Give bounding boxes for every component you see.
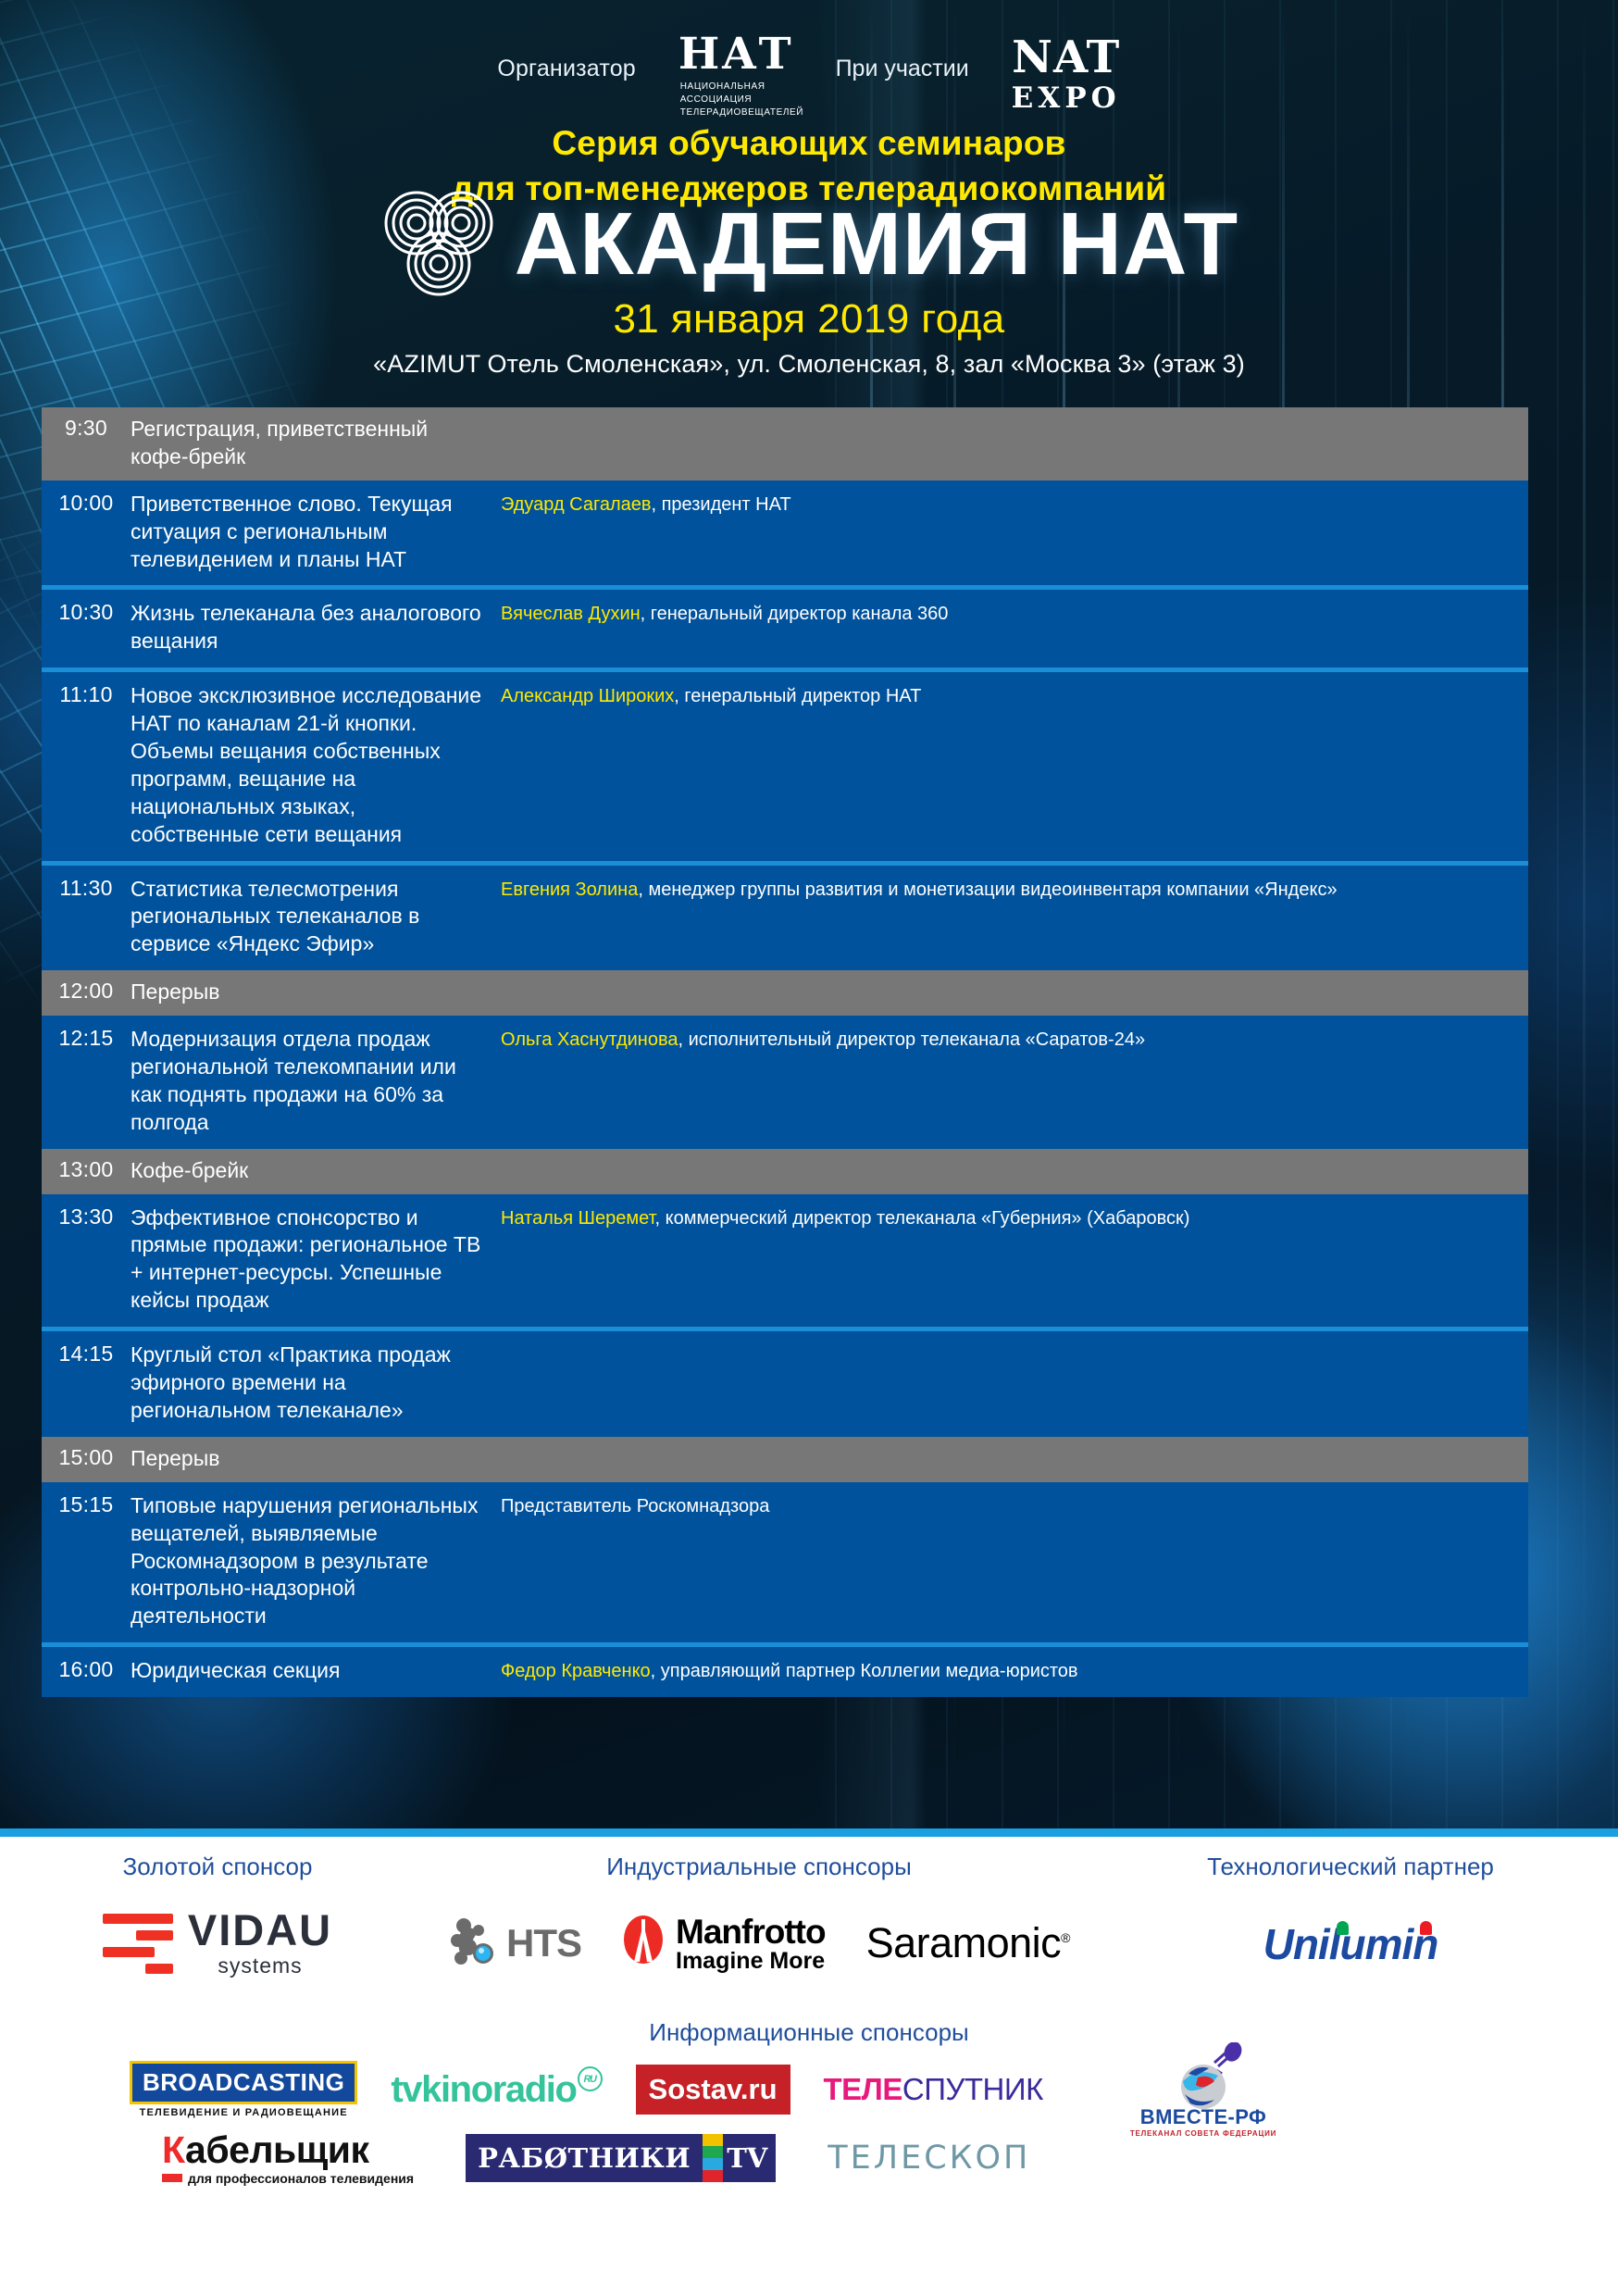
sponsor-logo-sostav[interactable]: Sostav.ru xyxy=(636,2065,790,2115)
schedule-speaker-name: Александр Широких xyxy=(501,686,674,706)
primary-sponsor-logos-row: VIDAU systems xyxy=(0,1890,1618,1997)
kabelshik-square-icon xyxy=(162,2174,182,2182)
event-date: 31 января 2019 года xyxy=(0,296,1618,343)
nat-logo: НАТ НАЦИОНАЛЬНАЯ АССОЦИАЦИЯ ТЕЛЕРАДИОВЕЩ… xyxy=(678,33,793,120)
schedule-speaker-name: Федор Кравченко xyxy=(501,1661,651,1681)
schedule-speaker xyxy=(501,1331,1528,1355)
hts-molecule-icon xyxy=(448,1916,502,1970)
schedule-time: 13:00 xyxy=(42,1149,131,1191)
telesputnik-wordmark-part2: СПУТНИК xyxy=(902,2072,1043,2106)
sponsor-logo-tvkinoradio[interactable]: tvkinoradio RU xyxy=(391,2069,602,2111)
schedule-time: 12:00 xyxy=(42,970,131,1012)
tech-partner-logos: Unilumin xyxy=(1083,1919,1618,1969)
schedule-speaker-role: , менеджер группы развития и монетизации… xyxy=(638,880,1337,900)
poster-root: Организатор НАТ НАЦИОНАЛЬНАЯ АССОЦИАЦИЯ … xyxy=(0,0,1618,2296)
schedule-topic: Новое эксклюзивное исследование НАТ по к… xyxy=(131,672,501,860)
schedule-row: 15:00Перерыв xyxy=(42,1437,1528,1482)
schedule-topic: Круглый стол «Практика продаж эфирного в… xyxy=(131,1331,501,1437)
schedule-topic: Модернизация отдела продаж региональной … xyxy=(131,1016,501,1149)
unilumin-red-dot-icon xyxy=(1420,1921,1432,1935)
kabelshik-tagline: для профессионалов телевидения xyxy=(188,2171,414,2186)
schedule-speaker-role: , президент НАТ xyxy=(651,494,790,515)
sponsor-logo-broadcasting[interactable]: BROADCASTING ТЕЛЕВИДЕНИЕ И РАДИОВЕЩАНИЕ xyxy=(130,2061,357,2118)
rabotniki-color-strip-icon xyxy=(703,2134,723,2182)
schedule-time: 10:00 xyxy=(42,480,131,526)
schedule-topic: Перерыв xyxy=(131,1437,501,1482)
manfrotto-tripod-icon xyxy=(622,1915,665,1971)
saramonic-wordmark: Saramonic xyxy=(866,1919,1062,1966)
schedule-row: 14:15Круглый стол «Практика продаж эфирн… xyxy=(42,1327,1528,1437)
sponsor-logo-telesputnik[interactable]: ТЕЛЕСПУТНИК xyxy=(824,2072,1043,2107)
schedule-speaker: Вячеслав Духин, генеральный директор кан… xyxy=(501,590,1528,638)
page-title: АКАДЕМИЯ НАТ xyxy=(515,200,1238,289)
schedule-topic: Перерыв xyxy=(131,970,501,1016)
schedule-speaker: Александр Широких, генеральный директор … xyxy=(501,672,1528,720)
organizer-label: Организатор xyxy=(497,56,636,82)
kabelshik-initial: К xyxy=(162,2131,185,2169)
info-sponsors-heading: Информационные спонсоры xyxy=(0,2018,1618,2047)
schedule-speaker-role: , управляющий партнер Коллегии медиа-юри… xyxy=(651,1661,1078,1681)
schedule-row: 11:30Статистика телесмотрения региональн… xyxy=(42,861,1528,971)
sponsor-logo-manfrotto[interactable]: Manfrotto Imagine More xyxy=(622,1915,826,1974)
rabotniki-wordmark: РАБØТНИКИ xyxy=(478,2142,691,2174)
sponsors-footer: Золотой спонсор Индустриальные спонсоры … xyxy=(0,1837,1618,2296)
vidau-bars-icon xyxy=(103,1914,173,1974)
sponsor-logo-kabelshik[interactable]: Кабельщик для профессионалов телевидения xyxy=(162,2131,414,2186)
schedule-speaker-name: Эдуард Сагалаев xyxy=(501,494,651,515)
schedule-time: 9:30 xyxy=(42,407,131,449)
participation-label: При участии xyxy=(836,56,969,82)
sponsor-logo-unilumin[interactable]: Unilumin xyxy=(1263,1919,1438,1969)
schedule-speaker-role: , генеральный директор НАТ xyxy=(674,686,921,706)
schedule-speaker xyxy=(501,970,1528,994)
kabelshik-wordmark: абельщик xyxy=(185,2131,369,2169)
sostav-wordmark: Sostav.ru xyxy=(649,2073,778,2105)
schedule-topic: Типовые нарушения региональных вещателей… xyxy=(131,1482,501,1642)
tvkinoradio-ru-badge-icon: RU xyxy=(578,2066,603,2091)
sponsor-logo-teleskop[interactable]: ТЕЛЕСКОП xyxy=(828,2140,1030,2177)
schedule-speaker-role: , генеральный директор канала 360 xyxy=(641,604,949,624)
sponsor-logo-vidau[interactable]: VIDAU systems xyxy=(0,1909,435,1978)
schedule-time: 11:30 xyxy=(42,866,131,911)
schedule-time: 14:15 xyxy=(42,1331,131,1377)
schedule-row: 9:30Регистрация, приветственный кофе-бре… xyxy=(42,407,1528,480)
unilumin-green-dot-icon xyxy=(1337,1921,1349,1935)
schedule-row: 11:10Новое эксклюзивное исследование НАТ… xyxy=(42,668,1528,860)
schedule-speaker: Евгения Золина, менеджер группы развития… xyxy=(501,866,1528,914)
tech-partner-heading: Технологический партнер xyxy=(1083,1853,1618,1881)
nat-logo-subtitle: НАЦИОНАЛЬНАЯ АССОЦИАЦИЯ ТЕЛЕРАДИОВЕЩАТЕЛ… xyxy=(680,81,791,120)
schedule-time: 15:00 xyxy=(42,1437,131,1479)
schedule-topic: Статистика телесмотрения региональных те… xyxy=(131,866,501,971)
vmeste-rf-emblem-icon xyxy=(1161,2042,1246,2111)
schedule-time: 15:15 xyxy=(42,1482,131,1528)
sponsor-logo-saramonic[interactable]: Saramonic® xyxy=(866,1919,1070,1967)
schedule-time: 11:10 xyxy=(42,672,131,717)
vidau-wordmark: VIDAU xyxy=(188,1909,332,1952)
schedule-row: 10:30Жизнь телеканала без аналогового ве… xyxy=(42,585,1528,668)
schedule-speaker-role: , коммерческий директор телеканала «Губе… xyxy=(655,1208,1190,1229)
tvkinoradio-wordmark: tvkinoradio xyxy=(391,2069,576,2110)
nat-expo-line2: EXPO xyxy=(1012,82,1121,116)
manfrotto-wordmark: Manfrotto xyxy=(676,1915,826,1950)
industrial-sponsor-logos: HTS Manfrotto Imagine More Saramonic® xyxy=(435,1915,1083,1974)
industrial-sponsors-heading: Индустриальные спонсоры xyxy=(435,1853,1083,1881)
schedule-row: 13:30Эффективное спонсорство и прямые пр… xyxy=(42,1194,1528,1328)
schedule-speaker: Федор Кравченко, управляющий партнер Кол… xyxy=(501,1647,1528,1695)
schedule-row: 13:00Кофе-брейк xyxy=(42,1149,1528,1194)
schedule-time: 10:30 xyxy=(42,590,131,635)
teleskop-wordmark: ТЕЛЕСКОП xyxy=(828,2140,1030,2177)
sponsor-headings-row: Золотой спонсор Индустриальные спонсоры … xyxy=(0,1853,1618,1881)
schedule-table: 9:30Регистрация, приветственный кофе-бре… xyxy=(42,407,1528,1697)
schedule-speaker xyxy=(501,407,1528,431)
telesputnik-wordmark-part1: ТЕЛЕ xyxy=(824,2072,902,2106)
schedule-time: 13:30 xyxy=(42,1194,131,1240)
unilumin-wordmark: Unilumin xyxy=(1263,1920,1438,1968)
broadcasting-tagline: ТЕЛЕВИДЕНИЕ И РАДИОВЕЩАНИЕ xyxy=(140,2107,348,2118)
info-sponsor-logos-row-2: Кабельщик для профессионалов телевидения… xyxy=(162,2124,1365,2192)
schedule-speaker xyxy=(501,1149,1528,1173)
hts-wordmark: HTS xyxy=(506,1921,581,1965)
broadcasting-wordmark: BROADCASTING xyxy=(143,2068,344,2096)
schedule-row: 12:15Модернизация отдела продаж регионал… xyxy=(42,1016,1528,1149)
schedule-time: 12:15 xyxy=(42,1016,131,1061)
schedule-row: 12:00Перерыв xyxy=(42,970,1528,1016)
nat-expo-line1: NAT xyxy=(1012,35,1120,80)
footer-accent-bar xyxy=(0,1828,1618,1837)
schedule-time: 16:00 xyxy=(42,1647,131,1692)
info-sponsor-logos-row-1: BROADCASTING ТЕЛЕВИДЕНИЕ И РАДИОВЕЩАНИЕ … xyxy=(130,2055,1518,2124)
schedule-topic: Приветственное слово. Текущая ситуация с… xyxy=(131,480,501,586)
vidau-subword: systems xyxy=(218,1953,302,1978)
schedule-speaker-name: Вячеслав Духин xyxy=(501,604,641,624)
schedule-speaker-name: Евгения Золина xyxy=(501,880,638,900)
schedule-topic: Эффективное спонсорство и прямые продажи… xyxy=(131,1194,501,1328)
top-logo-bar: Организатор НАТ НАЦИОНАЛЬНАЯ АССОЦИАЦИЯ … xyxy=(0,31,1618,133)
event-subtitle-line1: Серия обучающих семинаров xyxy=(0,120,1618,166)
schedule-speaker: Ольга Хаснутдинова, исполнительный дирек… xyxy=(501,1016,1528,1064)
schedule-topic: Жизнь телеканала без аналогового вещания xyxy=(131,590,501,668)
schedule-row: 10:00Приветственное слово. Текущая ситуа… xyxy=(42,480,1528,586)
nat-expo-logo: NAT EXPO xyxy=(1012,35,1121,116)
event-venue: «AZIMUT Отель Смоленская», ул. Смоленска… xyxy=(0,350,1618,379)
schedule-speaker: Представитель Роскомнадзора xyxy=(501,1482,1528,1530)
schedule-speaker-role: , исполнительный директор телеканала «Са… xyxy=(678,1029,1146,1050)
gold-sponsor-heading: Золотой спонсор xyxy=(0,1853,435,1881)
saramonic-registered-icon: ® xyxy=(1061,1930,1070,1945)
schedule-speaker: Эдуард Сагалаев, президент НАТ xyxy=(501,480,1528,529)
nat-broadcast-icon xyxy=(380,190,498,299)
schedule-speaker-name: Наталья Шеремет xyxy=(501,1208,655,1229)
schedule-topic: Юридическая секция xyxy=(131,1647,501,1697)
schedule-topic: Кофе-брейк xyxy=(131,1149,501,1194)
schedule-speaker xyxy=(501,1437,1528,1461)
schedule-row: 16:00Юридическая секцияФедор Кравченко, … xyxy=(42,1642,1528,1697)
schedule-topic: Регистрация, приветственный кофе-брейк xyxy=(131,407,501,480)
title-row: АКАДЕМИЯ НАТ xyxy=(0,190,1618,299)
schedule-speaker: Наталья Шеремет, коммерческий директор т… xyxy=(501,1194,1528,1242)
schedule-speaker-role: Представитель Роскомнадзора xyxy=(501,1496,769,1516)
manfrotto-tagline: Imagine More xyxy=(676,1949,826,1973)
schedule-row: 15:15Типовые нарушения региональных веща… xyxy=(42,1482,1528,1642)
schedule-speaker-name: Ольга Хаснутдинова xyxy=(501,1029,678,1050)
sponsor-logo-rabotniki-tv[interactable]: РАБØТНИКИ TV xyxy=(466,2134,776,2182)
nat-logo-word: НАТ xyxy=(678,33,793,76)
rabotniki-tv-wordmark: TV xyxy=(727,2142,767,2174)
sponsor-logo-hts[interactable]: HTS xyxy=(448,1916,581,1970)
